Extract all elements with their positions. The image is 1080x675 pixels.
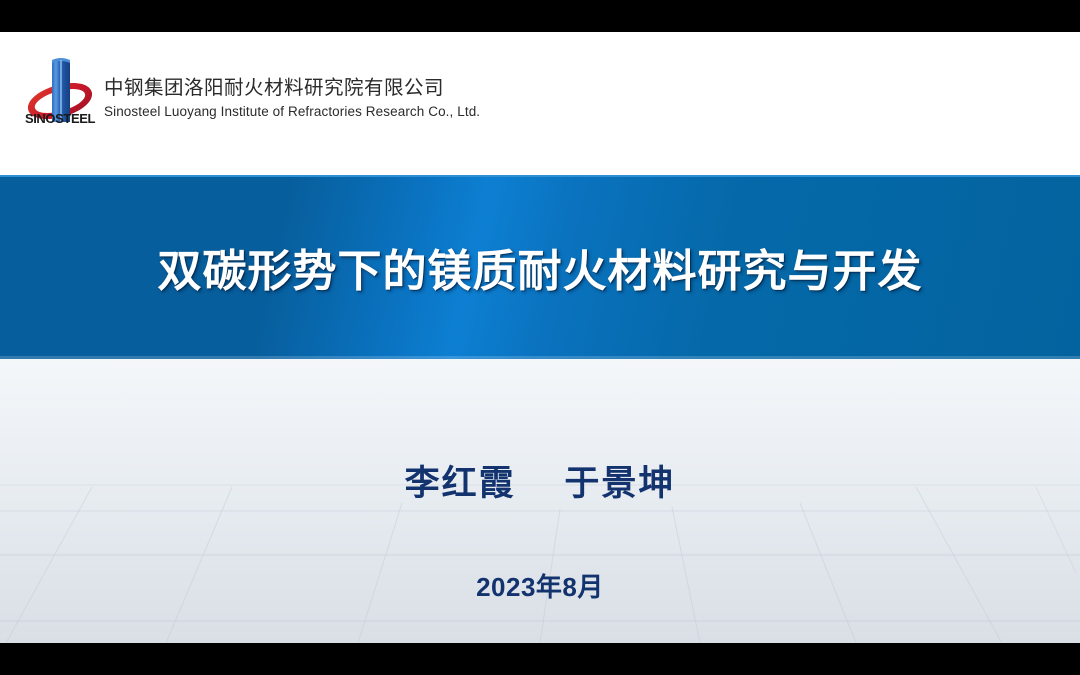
letterbox-bar-bottom [0,643,1080,675]
slide-title: 双碳形势下的镁质耐火材料研究与开发 [0,175,1080,359]
slide-frame: SINOSTEEL 中钢集团洛阳耐火材料研究院有限公司 Sinosteel Lu… [0,0,1080,675]
date-line: 2023年8月 [0,567,1080,604]
company-name-block: 中钢集团洛阳耐火材料研究院有限公司 Sinosteel Luoyang Inst… [104,54,480,122]
slide-body: 李红霞 于景坤 2023年8月 [0,359,1080,643]
letterbox-bar-top [0,0,1080,32]
slide-header: SINOSTEEL 中钢集团洛阳耐火材料研究院有限公司 Sinosteel Lu… [0,32,1080,175]
presentation-slide: SINOSTEEL 中钢集团洛阳耐火材料研究院有限公司 Sinosteel Lu… [0,32,1080,643]
sinosteel-logo-svg [24,54,96,139]
title-banner: 双碳形势下的镁质耐火材料研究与开发 [0,175,1080,359]
authors-line: 李红霞 于景坤 [0,455,1080,506]
company-logo-block: SINOSTEEL 中钢集团洛阳耐火材料研究院有限公司 Sinosteel Lu… [24,54,480,139]
company-name-english: Sinosteel Luoyang Institute of Refractor… [104,102,480,122]
company-name-chinese: 中钢集团洛阳耐火材料研究院有限公司 [104,76,480,100]
logo-wordmark: SINOSTEEL [24,111,96,126]
sinosteel-pillar-logo-icon: SINOSTEEL [24,54,96,139]
